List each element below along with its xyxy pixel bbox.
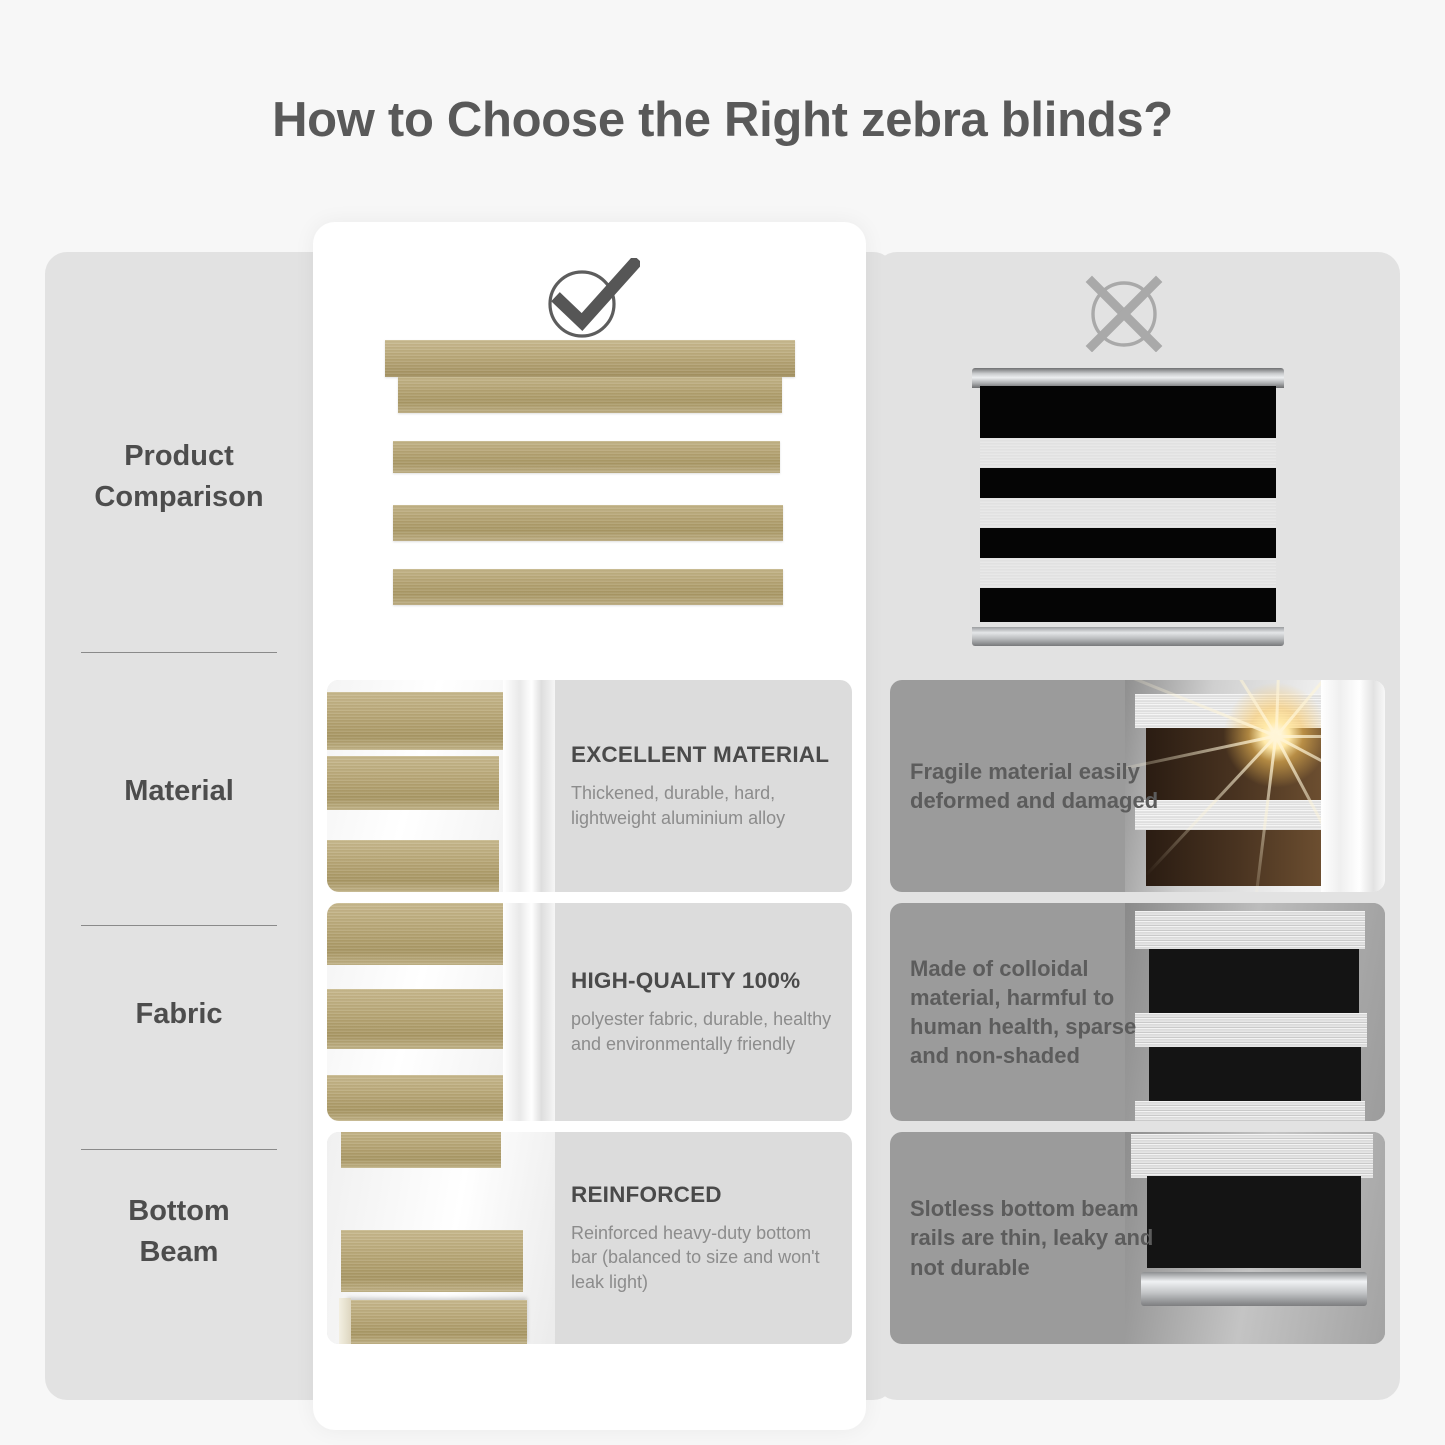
blind-lines-mid: [1135, 800, 1338, 830]
feature-body-fabric: polyester fabric, durable, healthy and e…: [571, 1007, 834, 1056]
sidebar-divider-1: [81, 652, 277, 653]
bottom-bar-end-cap: [339, 1298, 351, 1344]
feature-heading-fabric: HIGH-QUALITY 100%: [571, 968, 834, 994]
feature-heading-material: EXCELLENT MATERIAL: [571, 742, 834, 768]
blind-slat-3: [393, 505, 783, 541]
sidebar-item-product-comparison: Product Comparison: [45, 417, 313, 537]
sidebar-item-bottom-beam: Bottom Beam: [45, 1172, 313, 1292]
black-blind-headrail: [972, 368, 1284, 388]
dark-fabric-panel: [1147, 1176, 1361, 1268]
sheer-band-top: [1131, 1134, 1373, 1178]
sidebar-label-product-comparison: Product Comparison: [94, 436, 263, 518]
dark-band-2: [1149, 1047, 1361, 1101]
feature-card-material: EXCELLENT MATERIAL Thickened, durable, h…: [327, 680, 852, 892]
page-title: How to Choose the Right zebra blinds?: [0, 92, 1445, 148]
category-sidebar: Product Comparison Material Fabric Botto…: [45, 252, 313, 1400]
sidebar-label-material: Material: [124, 771, 234, 812]
sheer-band-2: [1135, 1013, 1367, 1047]
feature-card-bottom-beam: REINFORCED Reinforced heavy-duty bottom …: [327, 1132, 852, 1344]
closeup-slat-2: [327, 756, 499, 810]
feature-image-bottom-beam: [327, 1132, 555, 1344]
black-blind-bottom-rail: [972, 627, 1284, 646]
sheer-band-3: [1135, 1101, 1365, 1121]
black-blind-body: [980, 386, 1276, 622]
black-blind-sheer-band-3: [980, 558, 1276, 588]
drawback-image-material: [1125, 680, 1385, 892]
closeup-slat-1: [341, 1132, 501, 1168]
drawback-text-fabric: Made of colloidal material, harmful to h…: [890, 954, 1160, 1071]
drawback-card-bottom-beam: Slotless bottom beam rails are thin, lea…: [890, 1132, 1385, 1344]
recommended-product-image: [385, 340, 795, 665]
closeup-slat-3: [327, 1075, 511, 1121]
check-circle-icon: [540, 258, 640, 340]
sheer-band-1: [1135, 911, 1365, 949]
blind-slat-2: [393, 441, 780, 473]
window-frame-edge: [503, 903, 555, 1121]
sidebar-label-bottom-beam: Bottom Beam: [128, 1191, 229, 1273]
black-blind-sheer-band-2: [980, 498, 1276, 528]
blind-headrail: [385, 340, 795, 377]
sidebar-item-material: Material: [45, 757, 313, 827]
dark-band-1: [1149, 949, 1359, 1013]
closeup-slat-1: [327, 692, 507, 750]
drawback-card-material: Fragile material easily deformed and dam…: [890, 680, 1385, 892]
black-blind-sheer-band-1: [980, 438, 1276, 468]
closeup-slat-3: [327, 840, 499, 892]
feature-body-bottom-beam: Reinforced heavy-duty bottom bar (balanc…: [571, 1221, 834, 1295]
sidebar-divider-3: [81, 1149, 277, 1150]
not-recommended-product-image: [972, 368, 1284, 646]
blind-slat-1: [398, 377, 782, 413]
thin-bottom-rail: [1141, 1272, 1367, 1306]
blind-slat-4: [393, 569, 783, 605]
closeup-slat-2: [341, 1230, 523, 1292]
drawback-card-fabric: Made of colloidal material, harmful to h…: [890, 903, 1385, 1121]
closeup-slat-2: [327, 989, 511, 1049]
reinforced-bottom-bar: [347, 1300, 527, 1344]
feature-heading-bottom-beam: REINFORCED: [571, 1182, 834, 1208]
sidebar-divider-2: [81, 925, 277, 926]
window-frame-edge: [1321, 680, 1385, 892]
cross-circle-icon: [1078, 272, 1170, 352]
feature-body-material: Thickened, durable, hard, lightweight al…: [571, 781, 834, 830]
dark-gap-2: [1146, 830, 1333, 886]
feature-image-fabric: [327, 903, 555, 1121]
drawback-image-bottom-beam: [1125, 1132, 1385, 1344]
closeup-slat-1: [327, 903, 511, 965]
drawback-image-fabric: [1125, 903, 1385, 1121]
window-frame-edge: [503, 680, 555, 892]
drawback-text-material: Fragile material easily deformed and dam…: [890, 757, 1160, 816]
drawback-text-bottom-beam: Slotless bottom beam rails are thin, lea…: [890, 1194, 1160, 1282]
sidebar-item-fabric: Fabric: [45, 980, 313, 1050]
sun-glare-icon: [1216, 680, 1336, 795]
sidebar-label-fabric: Fabric: [135, 994, 222, 1035]
feature-image-material: [327, 680, 555, 892]
feature-card-fabric: HIGH-QUALITY 100% polyester fabric, dura…: [327, 903, 852, 1121]
